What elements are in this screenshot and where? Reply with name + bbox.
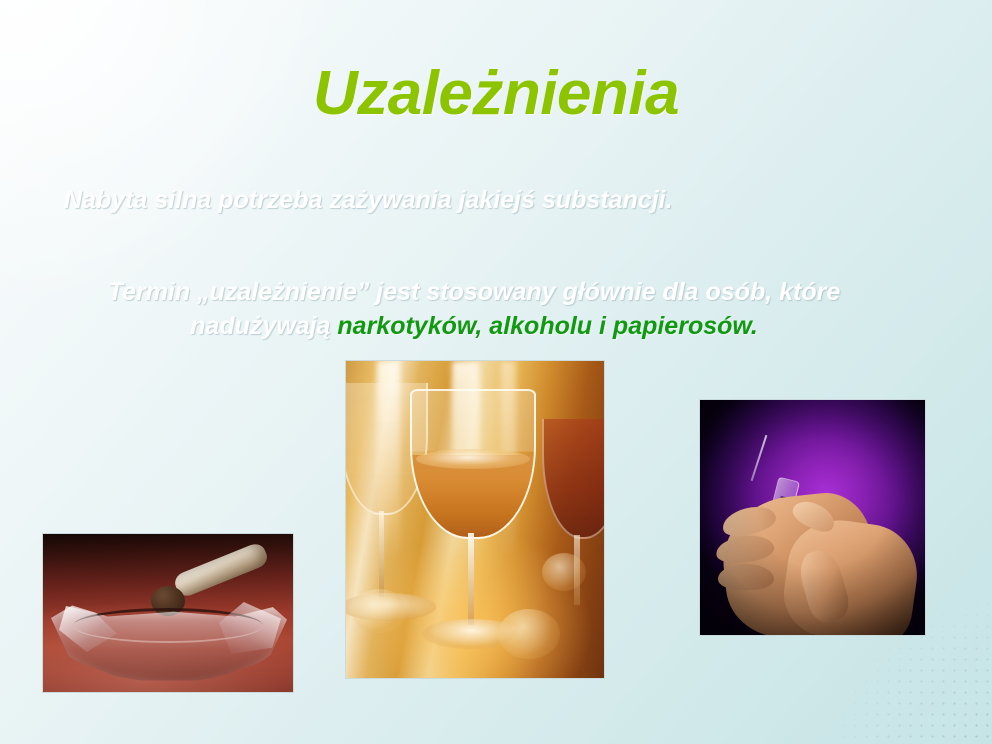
wine-glass-main-stem <box>468 533 474 625</box>
paragraph-usage-emphasis: narkotyków, alkoholu i papierosów. <box>337 312 757 340</box>
bokeh-highlight <box>498 609 560 659</box>
wine-glass-right-icon <box>542 419 604 539</box>
paragraph-usage: Termin „uzależnienie” jest stosowany głó… <box>56 275 892 343</box>
image-wine-glasses <box>346 361 604 678</box>
bokeh-highlight <box>352 589 406 633</box>
paragraph-definition: Nabyta silna potrzeba zażywania jakiejś … <box>64 183 892 217</box>
image-syringe-in-hands <box>700 400 925 635</box>
syringe-needle-icon <box>751 435 768 481</box>
wine-glass-main-icon <box>410 389 536 539</box>
presentation-slide: Uzależnienia Nabyta silna potrzeba zażyw… <box>0 0 992 744</box>
image-cigar-in-ashtray <box>43 534 293 692</box>
slide-body-text: Nabyta silna potrzeba zażywania jakiejś … <box>56 183 892 343</box>
wine-glass-left-stem <box>379 511 384 597</box>
page-title: Uzależnienia <box>0 58 992 129</box>
finger-icon <box>718 564 774 590</box>
bokeh-highlight <box>542 553 586 591</box>
cigar-icon <box>172 541 270 599</box>
